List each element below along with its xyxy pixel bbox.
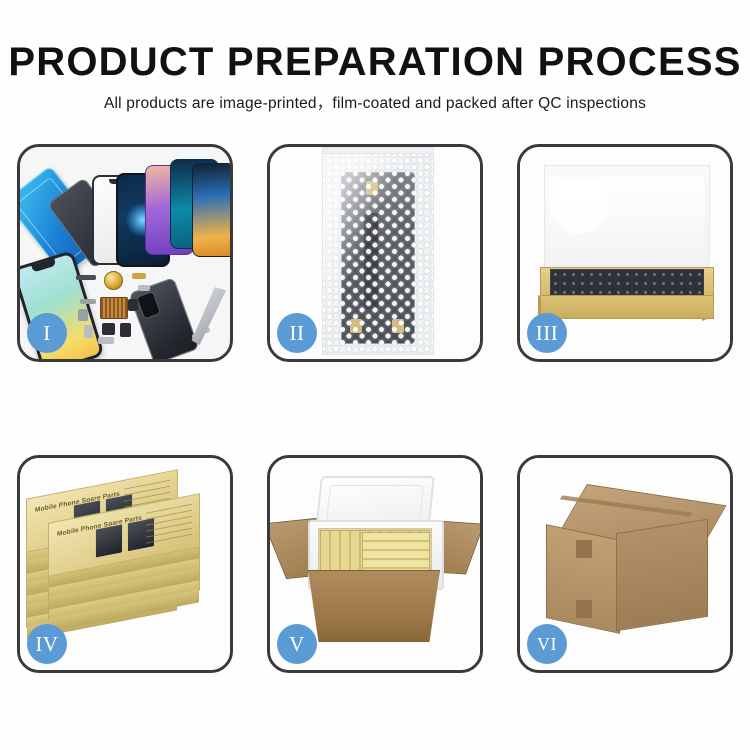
small-part-icon — [132, 273, 146, 279]
small-part-icon — [138, 285, 150, 291]
process-step-panel-4: Mobile Phone Spare Parts Mobile Phone Sp… — [17, 455, 233, 673]
carton-right-face-icon — [616, 519, 708, 632]
step-badge-5: V — [277, 624, 317, 664]
packed-retail-boxes-icon — [362, 532, 430, 576]
step-badge-3: III — [527, 313, 567, 353]
step-badge-4: IV — [27, 624, 67, 664]
process-step-panel-3: III — [517, 144, 733, 362]
kraft-box-front-icon — [540, 295, 714, 319]
process-step-panel-2: II — [267, 144, 483, 362]
page-title: PRODUCT PREPARATION PROCESS — [0, 0, 750, 84]
bubble-wrap-bag-icon — [322, 153, 434, 355]
small-part-icon — [128, 299, 138, 311]
small-part-icon — [98, 337, 114, 344]
product-preparation-process-page: PRODUCT PREPARATION PROCESS All products… — [0, 0, 750, 750]
page-subtitle: All products are image-printed，film-coat… — [0, 84, 750, 114]
carton-body-icon — [308, 570, 440, 642]
carton-tape-icon — [576, 540, 592, 558]
carton-tape-icon — [576, 600, 592, 618]
header: PRODUCT PREPARATION PROCESS All products… — [0, 0, 750, 114]
step-badge-2: II — [277, 313, 317, 353]
small-part-icon — [102, 323, 115, 335]
process-step-panel-5: V — [267, 455, 483, 673]
step-badge-6: VI — [527, 624, 567, 664]
small-part-icon — [120, 323, 131, 337]
step-badge-1: I — [27, 313, 67, 353]
flex-cable-icon — [78, 309, 88, 321]
process-step-panel-6: VI — [517, 455, 733, 673]
process-step-panel-1: I — [17, 144, 233, 362]
circuit-chip-icon — [100, 297, 128, 319]
small-part-icon — [76, 275, 96, 280]
phone-gold-display-icon — [192, 163, 230, 257]
foam-padding-icon — [548, 177, 704, 269]
small-part-icon — [84, 325, 93, 338]
flex-cable-icon — [80, 299, 96, 304]
speaker-module-icon — [104, 271, 123, 290]
